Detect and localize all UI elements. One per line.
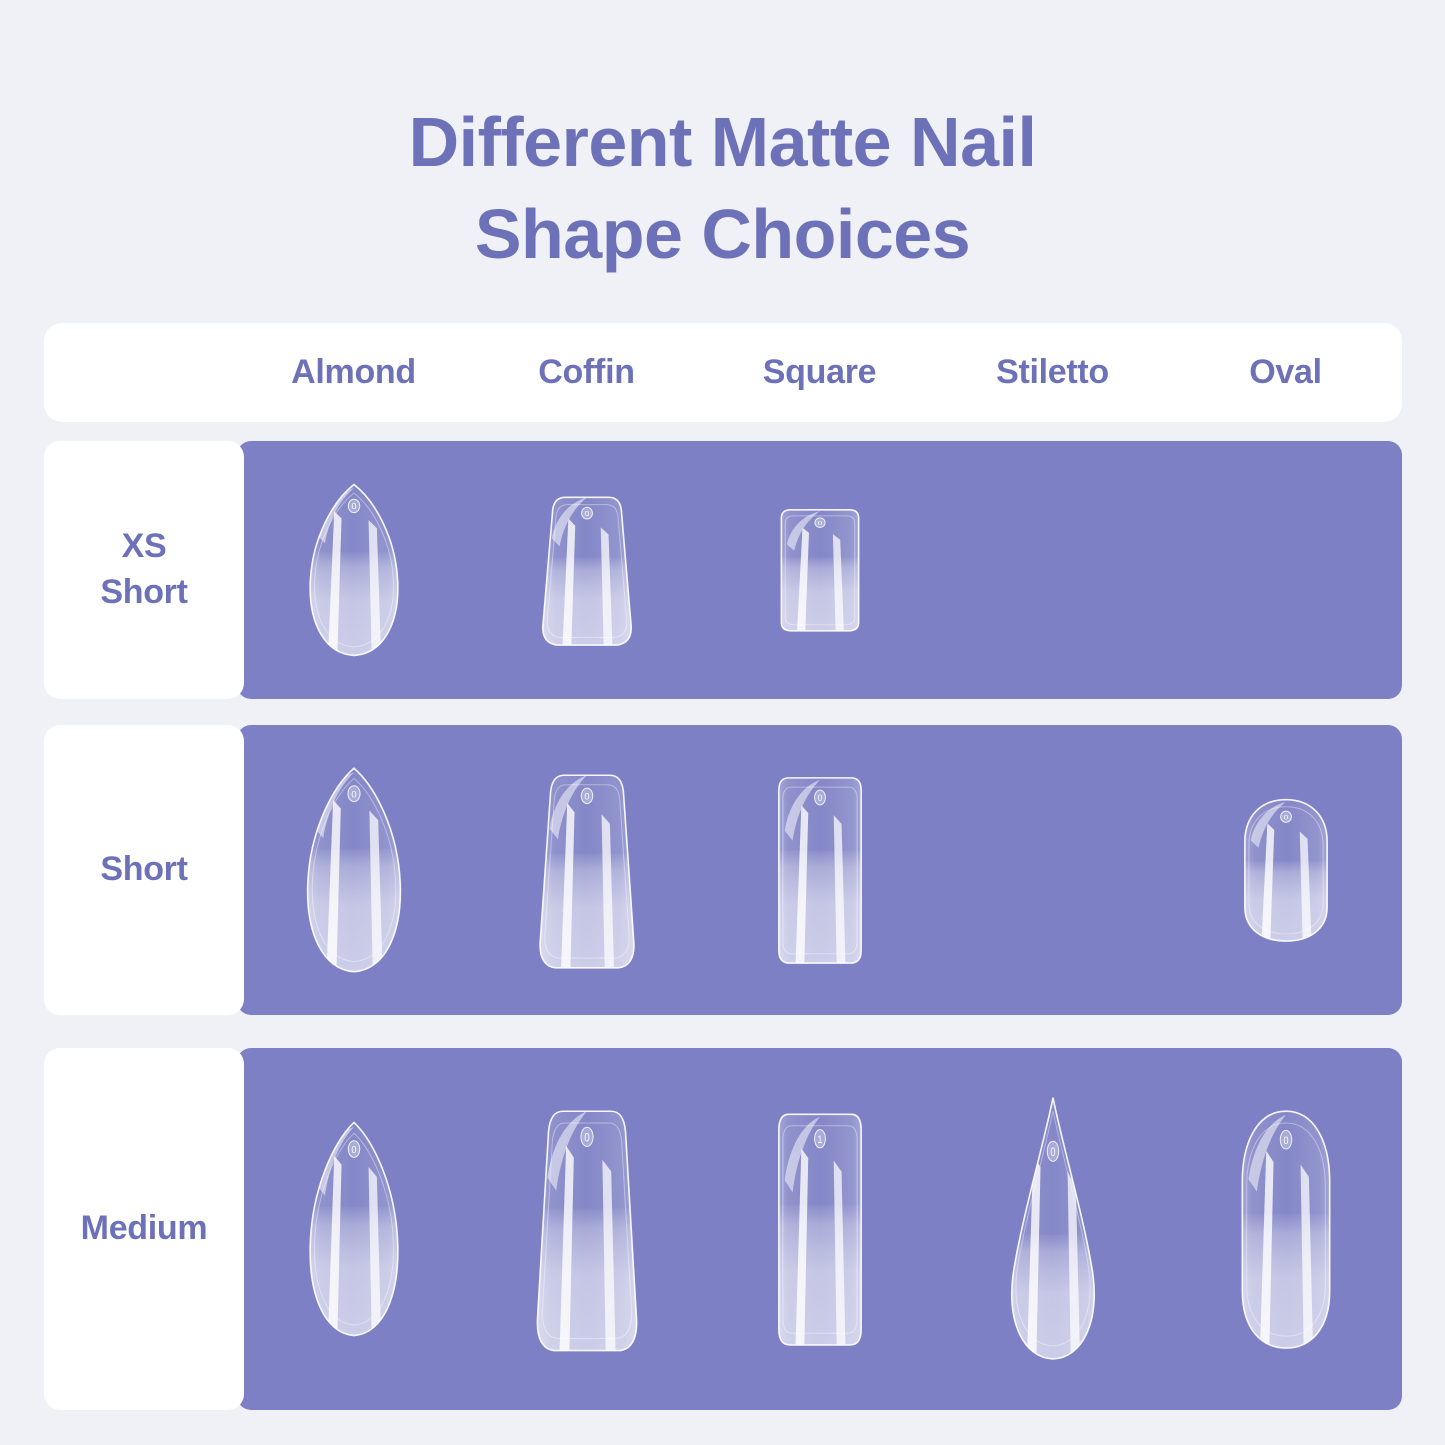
column-header-stiletto: Stiletto [936,353,1169,392]
nail-size-mark-label: 0 [584,1132,590,1145]
nail-tip-oval: 0 [1234,1105,1338,1353]
column-header-oval: Oval [1169,353,1402,392]
row-label-text: Medium [81,1206,208,1252]
nail-tip-square: 1 [771,1107,869,1351]
nail-cell-short-coffin: 0 [470,725,703,1015]
row-cells: 0 0 0 [237,441,1402,699]
nail-tip-square: 0 [771,772,869,968]
nail-cell-xs-short-coffin: 0 [470,441,703,699]
row-label-card-xs-short: XS Short [44,441,244,699]
row-label-line-1: XS [122,527,167,565]
table-row-xs-short: 0 0 0 XS Short [44,441,1402,699]
nail-cell-medium-square: 1 [703,1048,936,1410]
nail-size-mark-label: 0 [351,790,357,801]
title-line-1: Different Matte Nail [0,96,1445,188]
nail-size-mark-label: 0 [584,510,590,518]
nail-size-mark-label: 0 [1283,813,1289,821]
nail-size-mark-label: 0 [584,792,589,802]
row-label-card-short: Short [44,725,244,1015]
nail-tip-almond: 0 [302,1118,406,1340]
nail-tip-coffin: 0 [538,491,636,649]
nail-tip-almond: 0 [302,481,406,659]
row-label-text: XS Short [100,524,187,615]
nail-cell-short-oval: 0 [1169,725,1402,1015]
nail-size-mark-label: 0 [817,520,822,526]
nail-tip-oval: 0 [1237,796,1335,944]
table-row-medium: 0 0 1 0 0 Medium [44,1048,1402,1410]
row-label-card-medium: Medium [44,1048,244,1410]
infographic-page: Different Matte Nail Shape Choices Almon… [0,0,1445,1445]
title-line-2: Shape Choices [0,188,1445,280]
nail-cell-xs-short-almond: 0 [237,441,470,699]
column-header-band: Almond Coffin Square Stiletto Oval [44,323,1402,422]
nail-cell-short-square: 0 [703,725,936,1015]
nail-cell-medium-oval: 0 [1169,1048,1402,1410]
nail-tip-stiletto: 0 [1001,1095,1105,1363]
row-cells: 0 0 0 0 [237,725,1402,1015]
nail-size-mark-label: 0 [351,502,356,511]
nail-size-mark-label: 0 [817,793,822,803]
row-label-line-2: Short [100,573,187,611]
nail-tip-square: 0 [774,506,866,634]
table-row-short: 0 0 0 0 Short [44,725,1402,1015]
column-header-coffin: Coffin [470,353,703,392]
nail-cell-xs-short-square: 0 [703,441,936,699]
row-cells: 0 0 1 0 0 [237,1048,1402,1410]
column-header-almond: Almond [237,353,470,392]
nail-cell-short-almond: 0 [237,725,470,1015]
row-label-text: Short [100,847,187,893]
page-title: Different Matte Nail Shape Choices [0,0,1445,281]
nail-size-mark-label: 1 [817,1134,822,1146]
header-columns: Almond Coffin Square Stiletto Oval [237,353,1402,392]
nail-tip-coffin: 0 [532,1101,642,1357]
nail-size-mark-label: 0 [1050,1146,1055,1159]
nail-cell-medium-stiletto: 0 [936,1048,1169,1410]
nail-size-mark-label: 0 [351,1145,356,1156]
nail-tip-almond: 0 [299,764,409,976]
nail-cell-medium-coffin: 0 [470,1048,703,1410]
nail-size-mark-label: 0 [1283,1136,1288,1148]
nail-tip-coffin: 0 [535,767,639,973]
nail-cell-medium-almond: 0 [237,1048,470,1410]
column-header-square: Square [703,353,936,392]
